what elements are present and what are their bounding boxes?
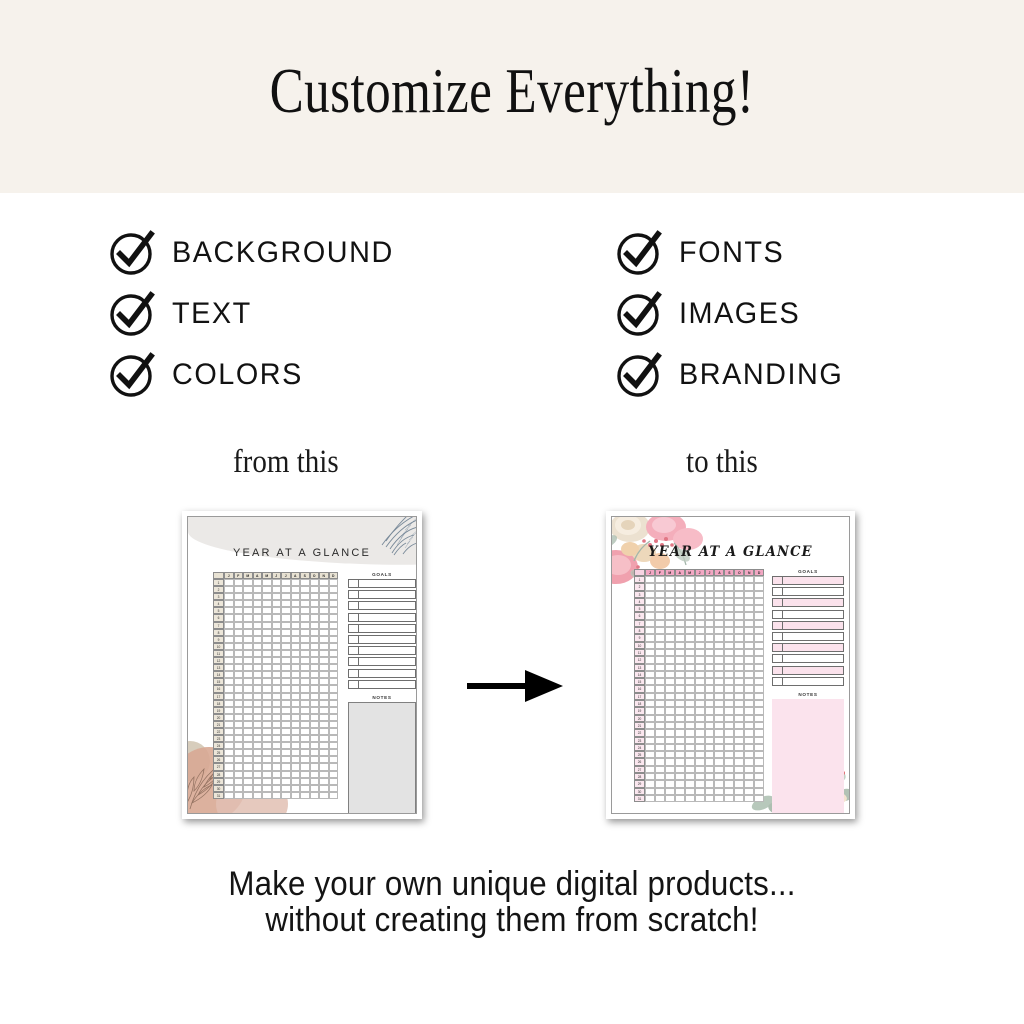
goal-row[interactable]: [772, 576, 844, 585]
grid-cell[interactable]: [754, 605, 764, 612]
grid-cell[interactable]: [319, 714, 329, 721]
grid-cell[interactable]: [291, 756, 301, 763]
grid-cell[interactable]: [734, 642, 744, 649]
grid-cell[interactable]: [243, 792, 253, 799]
grid-cell[interactable]: [734, 780, 744, 787]
grid-cell[interactable]: [705, 729, 715, 736]
grid-cell[interactable]: [291, 721, 301, 728]
grid-cell[interactable]: [714, 758, 724, 765]
grid-cell[interactable]: [243, 636, 253, 643]
grid-cell[interactable]: [300, 749, 310, 756]
grid-cell[interactable]: [734, 715, 744, 722]
grid-cell[interactable]: [675, 707, 685, 714]
grid-cell[interactable]: [645, 729, 655, 736]
grid-cell[interactable]: [262, 579, 272, 586]
grid-cell[interactable]: [224, 614, 234, 621]
grid-cell[interactable]: [243, 650, 253, 657]
goal-checkbox[interactable]: [348, 669, 359, 678]
grid-cell[interactable]: [329, 693, 339, 700]
grid-cell[interactable]: [291, 629, 301, 636]
grid-cell[interactable]: [754, 678, 764, 685]
grid-cell[interactable]: [665, 612, 675, 619]
grid-cell[interactable]: [645, 627, 655, 634]
grid-cell[interactable]: [234, 778, 244, 785]
grid-cell[interactable]: [319, 792, 329, 799]
grid-cell[interactable]: [675, 656, 685, 663]
grid-cell[interactable]: [675, 729, 685, 736]
grid-cell[interactable]: [300, 579, 310, 586]
grid-cell[interactable]: [744, 737, 754, 744]
grid-cell[interactable]: [655, 788, 665, 795]
grid-cell[interactable]: [329, 742, 339, 749]
grid-cell[interactable]: [291, 600, 301, 607]
grid-cell[interactable]: [665, 722, 675, 729]
grid-cell[interactable]: [272, 771, 282, 778]
grid-cell[interactable]: [281, 721, 291, 728]
grid-cell[interactable]: [234, 707, 244, 714]
grid-cell[interactable]: [744, 758, 754, 765]
grid-cell[interactable]: [329, 771, 339, 778]
grid-cell[interactable]: [754, 583, 764, 590]
grid-cell[interactable]: [685, 598, 695, 605]
grid-cell[interactable]: [310, 579, 320, 586]
grid-cell[interactable]: [224, 629, 234, 636]
grid-cell[interactable]: [695, 700, 705, 707]
grid-cell[interactable]: [754, 737, 764, 744]
grid-cell[interactable]: [714, 678, 724, 685]
grid-cell[interactable]: [695, 766, 705, 773]
grid-cell[interactable]: [754, 758, 764, 765]
grid-cell[interactable]: [243, 728, 253, 735]
grid-cell[interactable]: [705, 664, 715, 671]
goal-checkbox[interactable]: [772, 610, 783, 619]
grid-cell[interactable]: [291, 614, 301, 621]
grid-cell[interactable]: [272, 614, 282, 621]
grid-cell[interactable]: [224, 700, 234, 707]
grid-cell[interactable]: [734, 591, 744, 598]
grid-cell[interactable]: [675, 642, 685, 649]
grid-cell[interactable]: [281, 685, 291, 692]
grid-cell[interactable]: [675, 671, 685, 678]
grid-cell[interactable]: [224, 678, 234, 685]
grid-cell[interactable]: [329, 707, 339, 714]
grid-cell[interactable]: [655, 591, 665, 598]
goal-row[interactable]: [772, 643, 844, 652]
goal-checkbox[interactable]: [348, 601, 359, 610]
grid-cell[interactable]: [665, 576, 675, 583]
grid-cell[interactable]: [744, 715, 754, 722]
grid-cell[interactable]: [655, 700, 665, 707]
goal-checkbox[interactable]: [348, 579, 359, 588]
grid-cell[interactable]: [714, 612, 724, 619]
grid-cell[interactable]: [714, 751, 724, 758]
goal-input-line[interactable]: [783, 598, 844, 607]
grid-cell[interactable]: [224, 721, 234, 728]
grid-cell[interactable]: [754, 744, 764, 751]
grid-cell[interactable]: [272, 593, 282, 600]
grid-cell[interactable]: [685, 605, 695, 612]
grid-cell[interactable]: [262, 693, 272, 700]
grid-cell[interactable]: [243, 664, 253, 671]
grid-cell[interactable]: [705, 576, 715, 583]
grid-cell[interactable]: [272, 643, 282, 650]
grid-cell[interactable]: [724, 707, 734, 714]
grid-cell[interactable]: [281, 714, 291, 721]
grid-cell[interactable]: [262, 614, 272, 621]
grid-cell[interactable]: [685, 795, 695, 802]
grid-cell[interactable]: [310, 792, 320, 799]
grid-cell[interactable]: [272, 579, 282, 586]
goal-checkbox[interactable]: [772, 666, 783, 675]
grid-cell[interactable]: [724, 715, 734, 722]
grid-cell[interactable]: [744, 634, 754, 641]
grid-cell[interactable]: [724, 795, 734, 802]
grid-cell[interactable]: [724, 780, 734, 787]
grid-cell[interactable]: [754, 685, 764, 692]
grid-cell[interactable]: [705, 751, 715, 758]
grid-cell[interactable]: [253, 614, 263, 621]
grid-cell[interactable]: [291, 650, 301, 657]
grid-cell[interactable]: [329, 636, 339, 643]
goal-input-line[interactable]: [359, 613, 416, 622]
goal-input-line[interactable]: [359, 669, 416, 678]
grid-cell[interactable]: [675, 722, 685, 729]
goal-checkbox[interactable]: [772, 643, 783, 652]
grid-cell[interactable]: [319, 622, 329, 629]
grid-cell[interactable]: [291, 579, 301, 586]
grid-cell[interactable]: [281, 593, 291, 600]
grid-cell[interactable]: [224, 636, 234, 643]
grid-cell[interactable]: [253, 657, 263, 664]
grid-cell[interactable]: [734, 664, 744, 671]
grid-cell[interactable]: [253, 763, 263, 770]
grid-cell[interactable]: [675, 598, 685, 605]
grid-cell[interactable]: [224, 671, 234, 678]
grid-cell[interactable]: [655, 707, 665, 714]
grid-cell[interactable]: [695, 612, 705, 619]
grid-cell[interactable]: [329, 650, 339, 657]
notes-box[interactable]: [772, 699, 844, 814]
grid-cell[interactable]: [319, 579, 329, 586]
grid-cell[interactable]: [224, 579, 234, 586]
grid-cell[interactable]: [300, 636, 310, 643]
grid-cell[interactable]: [714, 605, 724, 612]
grid-cell[interactable]: [665, 634, 675, 641]
grid-cell[interactable]: [675, 766, 685, 773]
grid-cell[interactable]: [224, 735, 234, 742]
grid-cell[interactable]: [714, 693, 724, 700]
grid-cell[interactable]: [272, 629, 282, 636]
grid-cell[interactable]: [695, 707, 705, 714]
goal-input-line[interactable]: [359, 579, 416, 588]
grid-cell[interactable]: [724, 751, 734, 758]
goal-checkbox[interactable]: [348, 680, 359, 689]
grid-cell[interactable]: [714, 685, 724, 692]
grid-cell[interactable]: [695, 656, 705, 663]
goal-row[interactable]: [772, 621, 844, 630]
grid-cell[interactable]: [234, 643, 244, 650]
grid-cell[interactable]: [695, 715, 705, 722]
grid-cell[interactable]: [272, 607, 282, 614]
grid-cell[interactable]: [655, 780, 665, 787]
grid-cell[interactable]: [234, 792, 244, 799]
grid-cell[interactable]: [714, 642, 724, 649]
grid-cell[interactable]: [665, 715, 675, 722]
grid-cell[interactable]: [675, 583, 685, 590]
grid-cell[interactable]: [291, 763, 301, 770]
grid-cell[interactable]: [754, 693, 764, 700]
grid-cell[interactable]: [253, 671, 263, 678]
grid-cell[interactable]: [675, 591, 685, 598]
grid-cell[interactable]: [695, 620, 705, 627]
grid-cell[interactable]: [754, 766, 764, 773]
grid-cell[interactable]: [645, 758, 655, 765]
grid-cell[interactable]: [329, 643, 339, 650]
grid-cell[interactable]: [291, 742, 301, 749]
grid-cell[interactable]: [655, 795, 665, 802]
grid-cell[interactable]: [695, 795, 705, 802]
grid-cell[interactable]: [645, 591, 655, 598]
grid-cell[interactable]: [272, 664, 282, 671]
grid-cell[interactable]: [291, 707, 301, 714]
grid-cell[interactable]: [655, 649, 665, 656]
grid-cell[interactable]: [243, 749, 253, 756]
grid-cell[interactable]: [329, 785, 339, 792]
grid-cell[interactable]: [744, 780, 754, 787]
goal-checkbox[interactable]: [348, 635, 359, 644]
grid-cell[interactable]: [243, 586, 253, 593]
grid-cell[interactable]: [300, 685, 310, 692]
feature-item-images[interactable]: IMAGES: [615, 283, 850, 344]
grid-cell[interactable]: [310, 636, 320, 643]
grid-cell[interactable]: [705, 744, 715, 751]
grid-cell[interactable]: [685, 766, 695, 773]
goal-checkbox[interactable]: [348, 613, 359, 622]
grid-cell[interactable]: [272, 742, 282, 749]
grid-cell[interactable]: [655, 737, 665, 744]
grid-cell[interactable]: [234, 742, 244, 749]
grid-cell[interactable]: [695, 627, 705, 634]
grid-cell[interactable]: [645, 700, 655, 707]
grid-cell[interactable]: [234, 771, 244, 778]
grid-cell[interactable]: [272, 756, 282, 763]
grid-cell[interactable]: [319, 614, 329, 621]
grid-cell[interactable]: [665, 788, 675, 795]
grid-cell[interactable]: [685, 707, 695, 714]
goal-input-line[interactable]: [783, 576, 844, 585]
grid-cell[interactable]: [744, 591, 754, 598]
grid-cell[interactable]: [714, 634, 724, 641]
grid-cell[interactable]: [665, 685, 675, 692]
grid-cell[interactable]: [234, 636, 244, 643]
grid-cell[interactable]: [714, 583, 724, 590]
grid-cell[interactable]: [645, 605, 655, 612]
grid-cell[interactable]: [744, 627, 754, 634]
grid-cell[interactable]: [262, 707, 272, 714]
grid-cell[interactable]: [705, 780, 715, 787]
grid-cell[interactable]: [705, 598, 715, 605]
grid-cell[interactable]: [291, 749, 301, 756]
grid-cell[interactable]: [645, 612, 655, 619]
grid-cell[interactable]: [234, 600, 244, 607]
grid-cell[interactable]: [262, 721, 272, 728]
grid-cell[interactable]: [291, 714, 301, 721]
grid-cell[interactable]: [695, 634, 705, 641]
grid-cell[interactable]: [714, 780, 724, 787]
grid-cell[interactable]: [724, 773, 734, 780]
grid-cell[interactable]: [310, 763, 320, 770]
grid-cell[interactable]: [310, 778, 320, 785]
grid-cell[interactable]: [724, 693, 734, 700]
grid-cell[interactable]: [734, 788, 744, 795]
grid-cell[interactable]: [272, 785, 282, 792]
grid-cell[interactable]: [714, 576, 724, 583]
grid-cell[interactable]: [695, 758, 705, 765]
grid-cell[interactable]: [675, 678, 685, 685]
grid-cell[interactable]: [645, 773, 655, 780]
grid-cell[interactable]: [724, 788, 734, 795]
grid-cell[interactable]: [714, 656, 724, 663]
grid-cell[interactable]: [319, 636, 329, 643]
grid-cell[interactable]: [665, 671, 675, 678]
grid-cell[interactable]: [224, 792, 234, 799]
grid-cell[interactable]: [300, 700, 310, 707]
grid-cell[interactable]: [724, 627, 734, 634]
grid-cell[interactable]: [685, 620, 695, 627]
grid-cell[interactable]: [675, 685, 685, 692]
grid-cell[interactable]: [675, 737, 685, 744]
grid-cell[interactable]: [685, 671, 695, 678]
grid-cell[interactable]: [262, 678, 272, 685]
grid-cell[interactable]: [329, 763, 339, 770]
grid-cell[interactable]: [655, 605, 665, 612]
grid-cell[interactable]: [243, 622, 253, 629]
grid-cell[interactable]: [705, 693, 715, 700]
grid-cell[interactable]: [685, 773, 695, 780]
grid-cell[interactable]: [714, 788, 724, 795]
grid-cell[interactable]: [754, 598, 764, 605]
grid-cell[interactable]: [329, 685, 339, 692]
grid-cell[interactable]: [645, 737, 655, 744]
grid-cell[interactable]: [744, 707, 754, 714]
goal-checkbox[interactable]: [772, 677, 783, 686]
grid-cell[interactable]: [234, 579, 244, 586]
grid-cell[interactable]: [300, 678, 310, 685]
grid-cell[interactable]: [253, 742, 263, 749]
grid-cell[interactable]: [253, 593, 263, 600]
grid-cell[interactable]: [310, 664, 320, 671]
grid-cell[interactable]: [319, 643, 329, 650]
grid-cell[interactable]: [310, 749, 320, 756]
grid-cell[interactable]: [243, 714, 253, 721]
grid-cell[interactable]: [329, 756, 339, 763]
grid-cell[interactable]: [754, 780, 764, 787]
grid-cell[interactable]: [754, 576, 764, 583]
grid-cell[interactable]: [665, 649, 675, 656]
grid-cell[interactable]: [300, 586, 310, 593]
grid-cell[interactable]: [310, 714, 320, 721]
grid-cell[interactable]: [329, 622, 339, 629]
grid-cell[interactable]: [272, 778, 282, 785]
grid-cell[interactable]: [685, 758, 695, 765]
grid-cell[interactable]: [724, 685, 734, 692]
grid-cell[interactable]: [272, 685, 282, 692]
grid-cell[interactable]: [272, 714, 282, 721]
grid-cell[interactable]: [685, 788, 695, 795]
grid-cell[interactable]: [272, 636, 282, 643]
grid-cell[interactable]: [291, 671, 301, 678]
grid-cell[interactable]: [655, 634, 665, 641]
grid-cell[interactable]: [665, 766, 675, 773]
grid-cell[interactable]: [243, 643, 253, 650]
grid-cell[interactable]: [234, 650, 244, 657]
grid-cell[interactable]: [675, 576, 685, 583]
grid-cell[interactable]: [281, 707, 291, 714]
grid-cell[interactable]: [645, 707, 655, 714]
grid-cell[interactable]: [734, 627, 744, 634]
feature-item-fonts[interactable]: FONTS: [615, 222, 850, 283]
grid-cell[interactable]: [234, 678, 244, 685]
grid-cell[interactable]: [685, 700, 695, 707]
grid-cell[interactable]: [695, 649, 705, 656]
grid-cell[interactable]: [253, 636, 263, 643]
grid-cell[interactable]: [253, 600, 263, 607]
goal-input-line[interactable]: [359, 635, 416, 644]
grid-cell[interactable]: [329, 657, 339, 664]
grid-cell[interactable]: [253, 714, 263, 721]
grid-cell[interactable]: [705, 627, 715, 634]
grid-cell[interactable]: [744, 700, 754, 707]
grid-cell[interactable]: [685, 642, 695, 649]
grid-cell[interactable]: [695, 671, 705, 678]
grid-cell[interactable]: [724, 664, 734, 671]
grid-cell[interactable]: [234, 657, 244, 664]
goal-input-line[interactable]: [359, 680, 416, 689]
grid-cell[interactable]: [319, 586, 329, 593]
grid-cell[interactable]: [319, 742, 329, 749]
grid-cell[interactable]: [243, 707, 253, 714]
grid-cell[interactable]: [234, 586, 244, 593]
grid-cell[interactable]: [243, 771, 253, 778]
grid-cell[interactable]: [281, 792, 291, 799]
grid-cell[interactable]: [675, 758, 685, 765]
grid-cell[interactable]: [300, 657, 310, 664]
grid-cell[interactable]: [224, 778, 234, 785]
grid-cell[interactable]: [754, 612, 764, 619]
grid-cell[interactable]: [655, 773, 665, 780]
grid-cell[interactable]: [291, 785, 301, 792]
grid-cell[interactable]: [272, 728, 282, 735]
grid-cell[interactable]: [744, 671, 754, 678]
grid-cell[interactable]: [281, 785, 291, 792]
grid-cell[interactable]: [300, 771, 310, 778]
grid-cell[interactable]: [685, 751, 695, 758]
grid-cell[interactable]: [300, 614, 310, 621]
grid-cell[interactable]: [234, 607, 244, 614]
grid-cell[interactable]: [281, 579, 291, 586]
grid-cell[interactable]: [300, 693, 310, 700]
grid-cell[interactable]: [281, 771, 291, 778]
grid-cell[interactable]: [655, 576, 665, 583]
grid-cell[interactable]: [243, 700, 253, 707]
grid-cell[interactable]: [262, 671, 272, 678]
grid-cell[interactable]: [281, 643, 291, 650]
goal-input-line[interactable]: [783, 621, 844, 630]
goal-row[interactable]: [348, 680, 416, 689]
grid-cell[interactable]: [744, 751, 754, 758]
goal-row[interactable]: [348, 590, 416, 599]
grid-cell[interactable]: [272, 707, 282, 714]
